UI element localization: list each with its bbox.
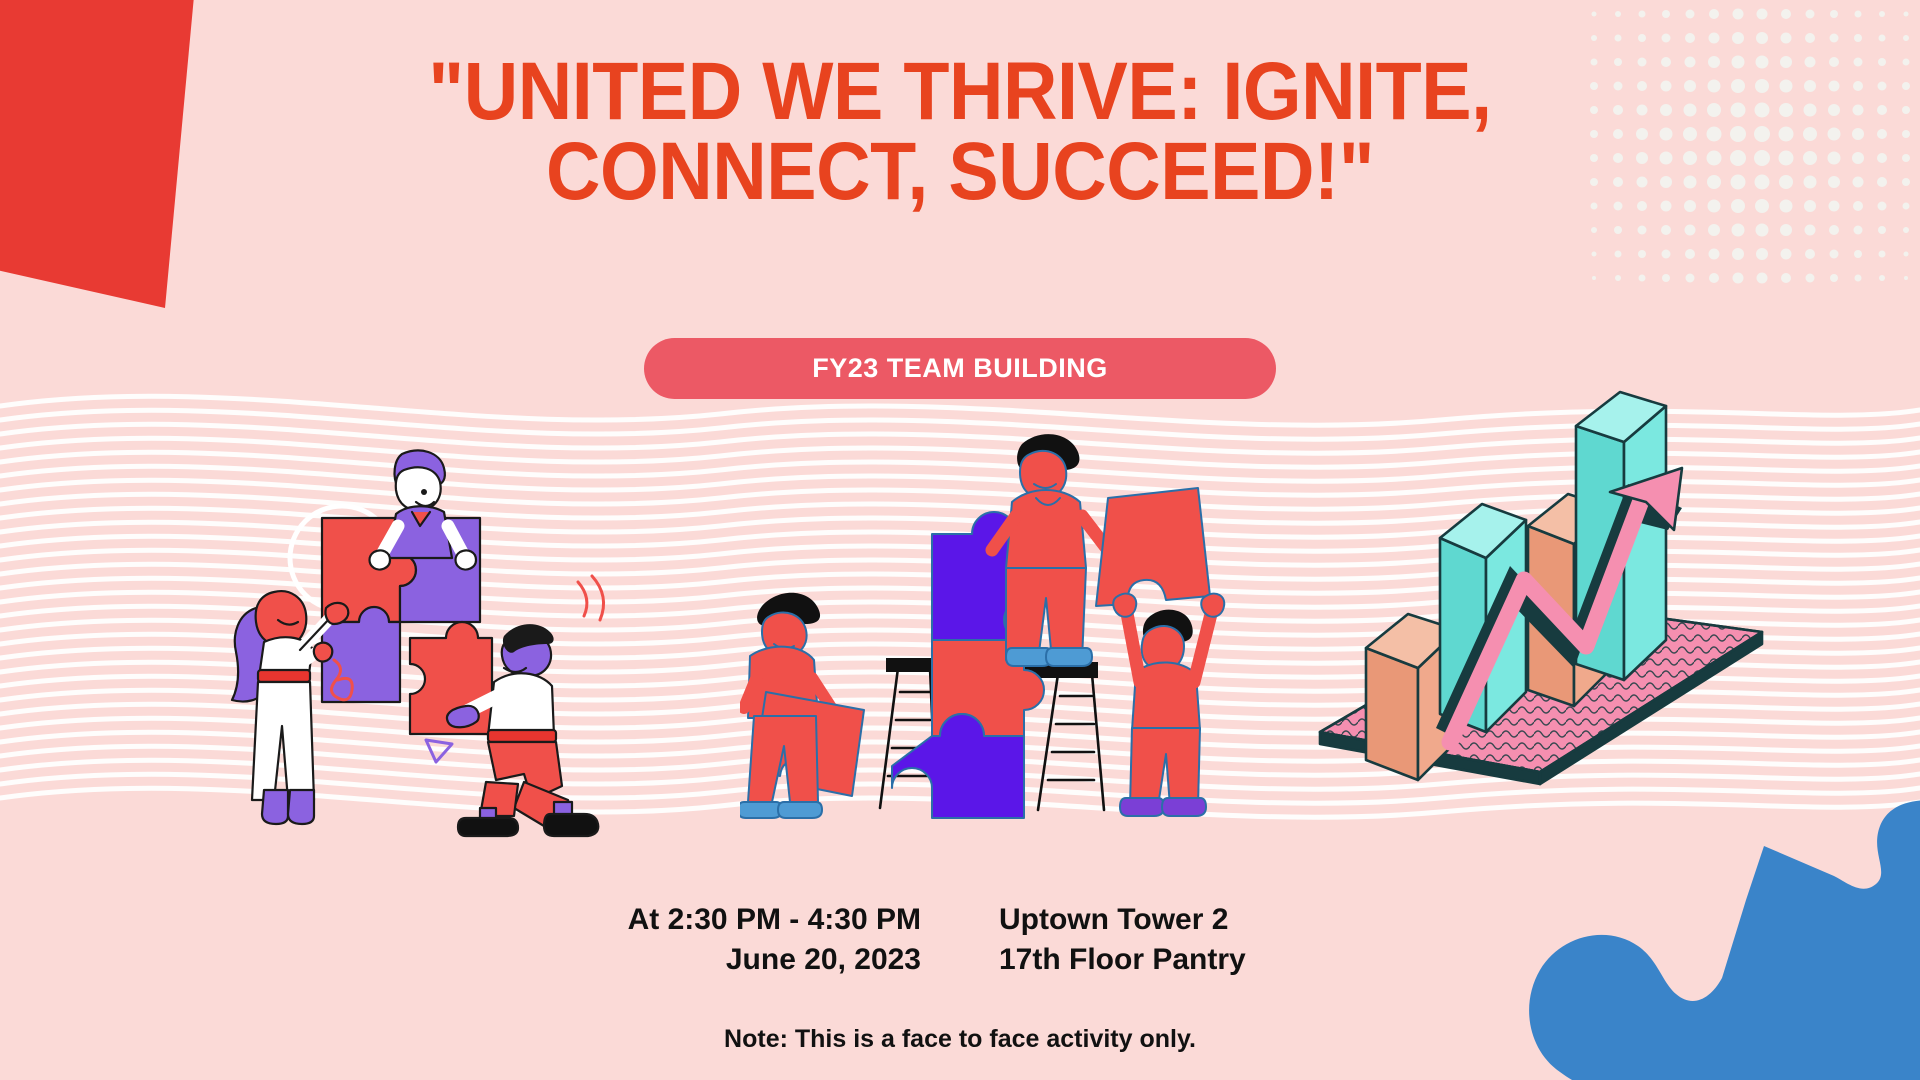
illustration-isometric-growth-chart (1310, 380, 1770, 800)
event-note: Note: This is a face to face activity on… (0, 1025, 1920, 1054)
event-venue-block: Uptown Tower 2 17th Floor Pantry (999, 900, 1319, 979)
status-badge: FY23 TEAM BUILDING (644, 338, 1276, 399)
event-time-block: At 2:30 PM - 4:30 PM June 20, 2023 (601, 900, 921, 979)
event-time: At 2:30 PM - 4:30 PM (601, 900, 921, 940)
illustration-team-stacking-puzzle-tower (740, 430, 1260, 850)
venue-building: Uptown Tower 2 (999, 900, 1319, 940)
event-details: At 2:30 PM - 4:30 PM June 20, 2023 Uptow… (0, 900, 1920, 979)
page-title: "UNITED WE THRIVE: IGNITE, CONNECT, SUCC… (77, 52, 1843, 211)
venue-floor: 17th Floor Pantry (999, 940, 1319, 980)
illustration-team-assembling-puzzle-grid (230, 430, 650, 850)
event-poster: "UNITED WE THRIVE: IGNITE, CONNECT, SUCC… (0, 0, 1920, 1080)
event-date: June 20, 2023 (601, 940, 921, 980)
